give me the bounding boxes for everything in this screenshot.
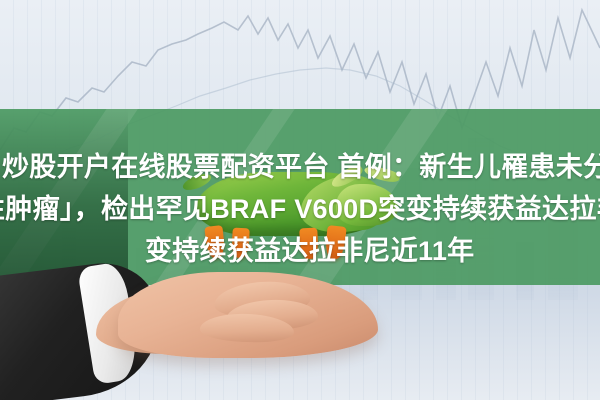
bull-leg-front-right xyxy=(231,228,250,259)
bull-leg-back-right xyxy=(324,225,346,260)
bull-leg-back-left xyxy=(299,228,319,260)
bull-leg-front-left xyxy=(204,225,225,259)
bull-head xyxy=(336,184,398,226)
bull-figurine xyxy=(0,130,600,270)
banner-image: 炒股开户在线股票配资平台 首例：新生儿罹患未分类 性肿瘤」，检出罕见BRAF V… xyxy=(0,0,600,400)
